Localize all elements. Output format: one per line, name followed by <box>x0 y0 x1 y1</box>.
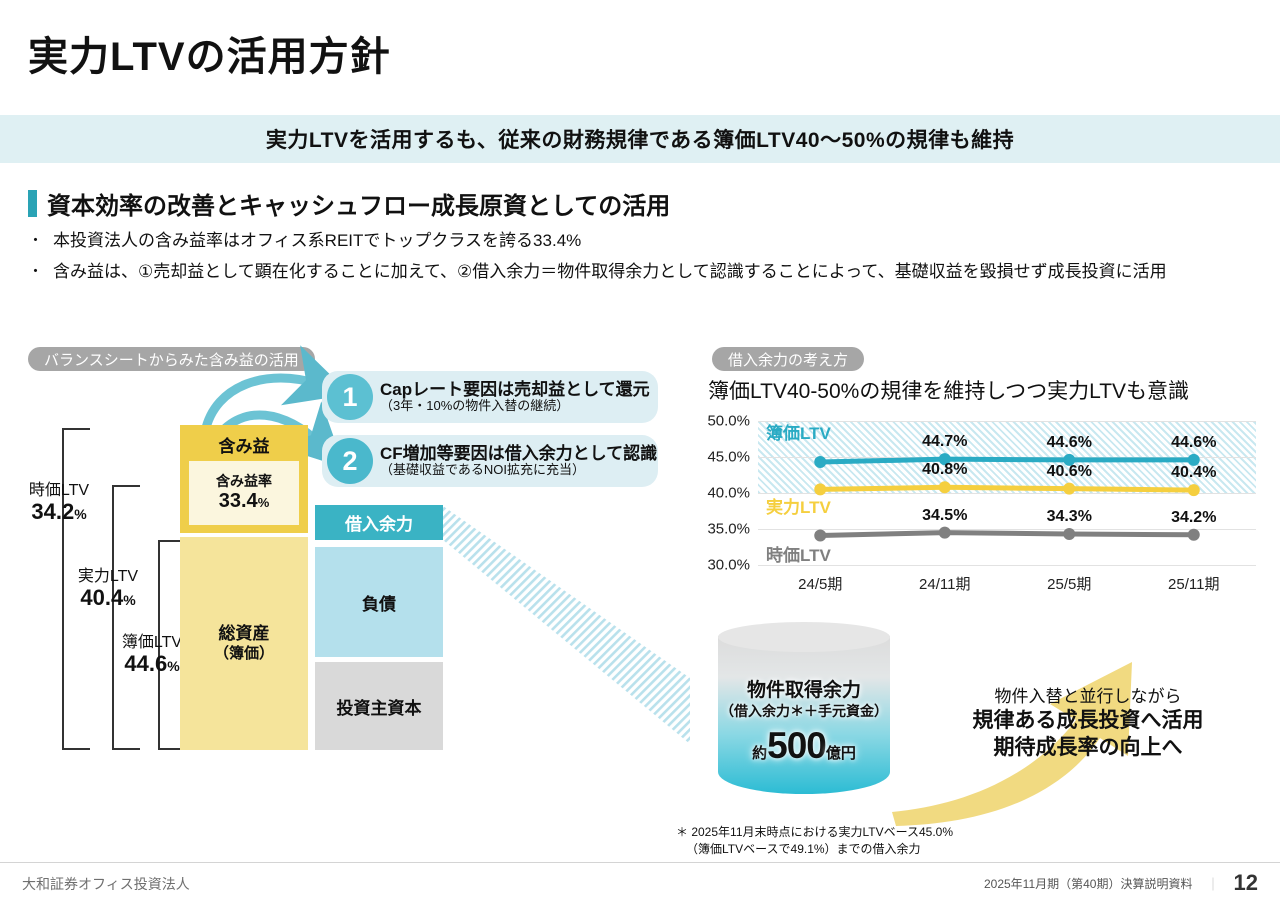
callout-2: 2 CF増加等要因は借入余力として認識 （基礎収益であるNOI拡充に充当） <box>322 435 658 487</box>
chart-data-label: 44.6% <box>1047 434 1092 452</box>
list-item: ・ 含み益は、①売却益として顕在化することに加えて、②借入余力＝物件取得余力とし… <box>28 261 1258 283</box>
bracket-value: 34.2% <box>4 500 114 524</box>
callout-2-title: CF増加等要因は借入余力として認識 <box>380 444 657 464</box>
footer-company: 大和証券オフィス投資法人 <box>22 874 190 894</box>
chart-data-point <box>1188 529 1200 541</box>
footer-right: 2025年11月期（第40期）決算説明資料 ｜ 12 <box>984 870 1258 896</box>
unrealized-gain-rate-label: 含み益率 <box>216 473 272 489</box>
footer-page-number: 12 <box>1234 870 1258 896</box>
bar-total-assets-sublabel: （簿価） <box>214 645 274 663</box>
unrealized-gain-rate-value: 33.4% <box>219 490 270 513</box>
bracket-value: 40.4% <box>52 586 164 610</box>
chart-data-label: 34.5% <box>922 507 967 525</box>
growth-message: 物件入替と並行しながら 規律ある成長投資へ活用 期待成長率の向上へ <box>938 686 1238 762</box>
callout-2-number: 2 <box>327 438 373 484</box>
chart-data-label: 34.3% <box>1047 508 1092 526</box>
chart-series-label-簿価LTV: 簿価LTV <box>766 419 831 444</box>
growth-line-2: 規律ある成長投資へ活用 <box>938 708 1238 735</box>
borrowing-capacity-pill-label: 借入余力の考え方 <box>712 347 864 371</box>
bullet-text: 本投資法人の含み益率はオフィス系REITでトップクラスを誇る33.4% <box>53 230 581 252</box>
chart-x-tick-label: 24/11期 <box>919 573 970 594</box>
cylinder-title: 物件取得余力 <box>718 680 890 703</box>
chart-data-label: 44.7% <box>922 433 967 451</box>
bracket-name: 時価LTV <box>4 482 114 500</box>
list-item: ・ 本投資法人の含み益率はオフィス系REITでトップクラスを誇る33.4% <box>28 230 1258 252</box>
chart-data-label: 40.6% <box>1047 463 1092 481</box>
bar-borrowing-capacity-label: 借入余力 <box>345 510 413 535</box>
callout-2-subtitle: （基礎収益であるNOI拡充に充当） <box>380 463 657 478</box>
capacity-connector-band <box>443 506 690 744</box>
growth-line-3: 期待成長率の向上へ <box>938 735 1238 762</box>
chart-y-tick-label: 40.0% <box>688 485 750 502</box>
chart-title: 簿価LTV40-50%の規律を維持しつつ実力LTVも意識 <box>708 375 1189 405</box>
growth-line-1: 物件入替と並行しながら <box>938 686 1238 708</box>
bar-debt-label: 負債 <box>362 590 396 615</box>
chart-data-point <box>814 456 826 468</box>
acquisition-capacity-cylinder: 物件取得余力 （借入余力＊＋手元資金） 約500億円 <box>718 622 890 808</box>
footer-document: 2025年11月期（第40期）決算説明資料 <box>984 875 1193 892</box>
footer-divider <box>0 862 1280 863</box>
bullet-list: ・ 本投資法人の含み益率はオフィス系REITでトップクラスを誇る33.4% ・ … <box>28 230 1258 292</box>
bracket-name: 実力LTV <box>52 568 164 586</box>
chart-data-label: 34.2% <box>1171 509 1216 527</box>
arrow-to-callout-1 <box>205 378 318 432</box>
bullet-text: 含み益は、①売却益として顕在化することに加えて、②借入余力＝物件取得余力として認… <box>53 261 1167 283</box>
bar-unrealized-gain-label: 含み益 <box>180 432 308 457</box>
ltv-line-chart: 簿価LTV40-50%の規律を維持しつつ実力LTVも意識 50.0%45.0%4… <box>700 375 1280 605</box>
chart-data-point <box>939 481 951 493</box>
chart-y-tick-label: 45.0% <box>688 449 750 466</box>
page-title: 実力LTVの活用方針 <box>28 24 391 82</box>
bar-total-assets: 総資産 （簿価） <box>180 537 308 750</box>
chart-data-label: 40.4% <box>1171 464 1216 482</box>
slide: 実力LTVの活用方針 実力LTVを活用するも、従来の財務規律である簿価LTV40… <box>0 0 1280 905</box>
cylinder-top-ellipse <box>718 622 890 652</box>
header-banner: 実力LTVを活用するも、従来の財務規律である簿価LTV40～50%の規律も維持 <box>0 115 1280 163</box>
cylinder-text: 物件取得余力 （借入余力＊＋手元資金） 約500億円 <box>718 680 890 768</box>
bullet-marker-icon: ・ <box>28 261 43 283</box>
chart-line-時価LTV <box>820 533 1194 536</box>
bar-total-assets-label: 総資産 <box>219 624 270 644</box>
callout-1: 1 Capレート要因は売却益として還元 （3年・10%の物件入替の継続） <box>322 371 658 423</box>
bar-equity-label: 投資主資本 <box>337 694 422 719</box>
chart-y-tick-label: 35.0% <box>688 521 750 538</box>
callout-1-number: 1 <box>327 374 373 420</box>
bar-unrealized-gain: 含み益 含み益率 33.4% <box>180 425 308 533</box>
footnote: ＊ 2025年11月末時点における実力LTVベース45.0% （簿価LTVベース… <box>676 824 953 859</box>
chart-data-point <box>939 527 951 539</box>
chart-series-label-実力LTV: 実力LTV <box>766 493 831 518</box>
bullet-marker-icon: ・ <box>28 230 43 252</box>
footnote-line-2: （簿価LTVベースで49.1%）までの借入余力 <box>676 841 953 858</box>
balance-sheet-diagram: 時価LTV 34.2% 実力LTV 40.4% 簿価LTV 44.6% 含み益 … <box>0 340 690 840</box>
bar-equity: 投資主資本 <box>315 662 443 750</box>
cylinder-subtitle: （借入余力＊＋手元資金） <box>718 703 890 720</box>
cylinder-amount: 約500億円 <box>718 724 890 768</box>
chart-data-point <box>1063 528 1075 540</box>
chart-line-実力LTV <box>820 487 1194 490</box>
header-banner-text: 実力LTVを活用するも、従来の財務規律である簿価LTV40～50%の規律も維持 <box>266 124 1014 154</box>
chart-data-label: 44.6% <box>1171 434 1216 452</box>
footer-separator: ｜ <box>1207 874 1220 893</box>
chart-y-tick-label: 50.0% <box>688 413 750 430</box>
chart-x-tick-label: 25/11期 <box>1168 573 1219 594</box>
chart-plot-area: 50.0%45.0%40.0%35.0%30.0%24/5期24/11期25/5… <box>758 421 1256 565</box>
bracket-label-jika: 時価LTV 34.2% <box>4 482 114 524</box>
chart-data-point <box>1063 483 1075 495</box>
chart-series-label-時価LTV: 時価LTV <box>766 541 831 566</box>
chart-data-label: 40.8% <box>922 461 967 479</box>
bar-debt: 負債 <box>315 547 443 657</box>
chart-x-tick-label: 24/5期 <box>798 573 842 594</box>
bar-borrowing-capacity: 借入余力 <box>315 505 443 540</box>
chart-data-point <box>1188 484 1200 496</box>
chart-y-tick-label: 30.0% <box>688 557 750 574</box>
section-accent-bar <box>28 190 37 217</box>
footnote-line-1: ＊ 2025年11月末時点における実力LTVベース45.0% <box>676 824 953 841</box>
section-heading: 資本効率の改善とキャッシュフロー成長原資としての活用 <box>28 186 670 221</box>
section-heading-text: 資本効率の改善とキャッシュフロー成長原資としての活用 <box>47 186 670 221</box>
callout-1-subtitle: （3年・10%の物件入替の継続） <box>380 399 650 414</box>
unrealized-gain-rate-box: 含み益率 33.4% <box>189 461 299 525</box>
chart-data-point <box>814 529 826 541</box>
bracket-label-jitsuryoku: 実力LTV 40.4% <box>52 568 164 610</box>
chart-gridline <box>758 565 1256 566</box>
chart-line-簿価LTV <box>820 459 1194 462</box>
chart-x-tick-label: 25/5期 <box>1047 573 1091 594</box>
callout-1-title: Capレート要因は売却益として還元 <box>380 380 650 400</box>
